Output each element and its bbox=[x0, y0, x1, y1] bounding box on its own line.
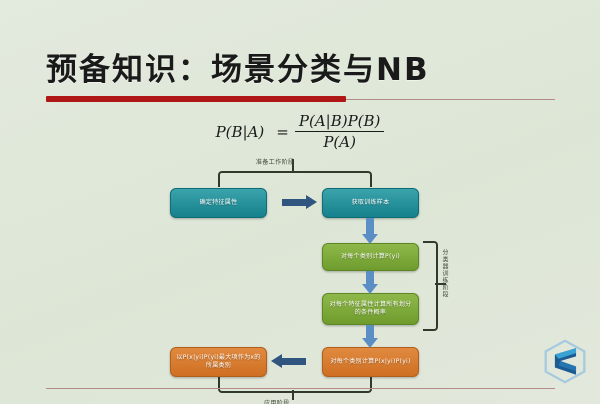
hexagon-s-logo-icon bbox=[542, 338, 588, 384]
stage-label-right: 分类器训练阶段 bbox=[440, 249, 449, 298]
flow-node-compute-conditional[interactable]: 对每个特征属性计算所有划分的条件概率 bbox=[322, 293, 419, 325]
arrow-right-top bbox=[282, 199, 306, 206]
footer-rule bbox=[46, 388, 555, 389]
formula-denominator: P(A) bbox=[319, 132, 360, 151]
stage-label-bottom: 应用阶段 bbox=[264, 398, 290, 404]
flow-node-compute-prior[interactable]: 对每个类别计算P(yi) bbox=[322, 243, 419, 271]
formula-equals: = bbox=[276, 123, 289, 141]
title-rule-accent bbox=[46, 96, 346, 102]
arrow-down-1 bbox=[366, 218, 374, 234]
stage-label-top: 准备工作阶段 bbox=[256, 157, 294, 166]
formula-numerator: P(A|B)P(B) bbox=[295, 112, 385, 131]
bracket-application-stage bbox=[218, 377, 372, 393]
bracket-training-stage bbox=[423, 241, 438, 331]
bracket-preparation-stage bbox=[218, 171, 372, 187]
slide-canvas: 预备知识：场景分类与NB P(B|A) = P(A|B)P(B) P(A) 准备… bbox=[0, 0, 600, 404]
arrow-down-3 bbox=[366, 325, 374, 338]
flowchart: 准备工作阶段 确定特征属性 获取训练样本 对每个类别计算P(yi) 对每个特征属… bbox=[170, 165, 440, 393]
arrow-left-bottom bbox=[282, 358, 306, 365]
flow-node-compute-posterior[interactable]: 对每个类别计算P(x|yi)P(yi) bbox=[322, 347, 419, 377]
formula-fraction: P(A|B)P(B) P(A) bbox=[295, 112, 385, 151]
flow-node-select-max-class[interactable]: 以P(x|yi)P(yi)最大项作为x的所属类别 bbox=[170, 347, 267, 377]
arrow-down-2 bbox=[366, 271, 374, 284]
bayes-formula: P(B|A) = P(A|B)P(B) P(A) bbox=[0, 112, 600, 151]
flow-node-get-training-samples[interactable]: 获取训练样本 bbox=[322, 188, 419, 218]
page-title: 预备知识：场景分类与NB bbox=[46, 44, 430, 89]
flow-node-determine-features[interactable]: 确定特征属性 bbox=[170, 188, 267, 218]
formula-lhs: P(B|A) bbox=[216, 123, 265, 141]
bracket-bottom-stem bbox=[292, 390, 294, 400]
